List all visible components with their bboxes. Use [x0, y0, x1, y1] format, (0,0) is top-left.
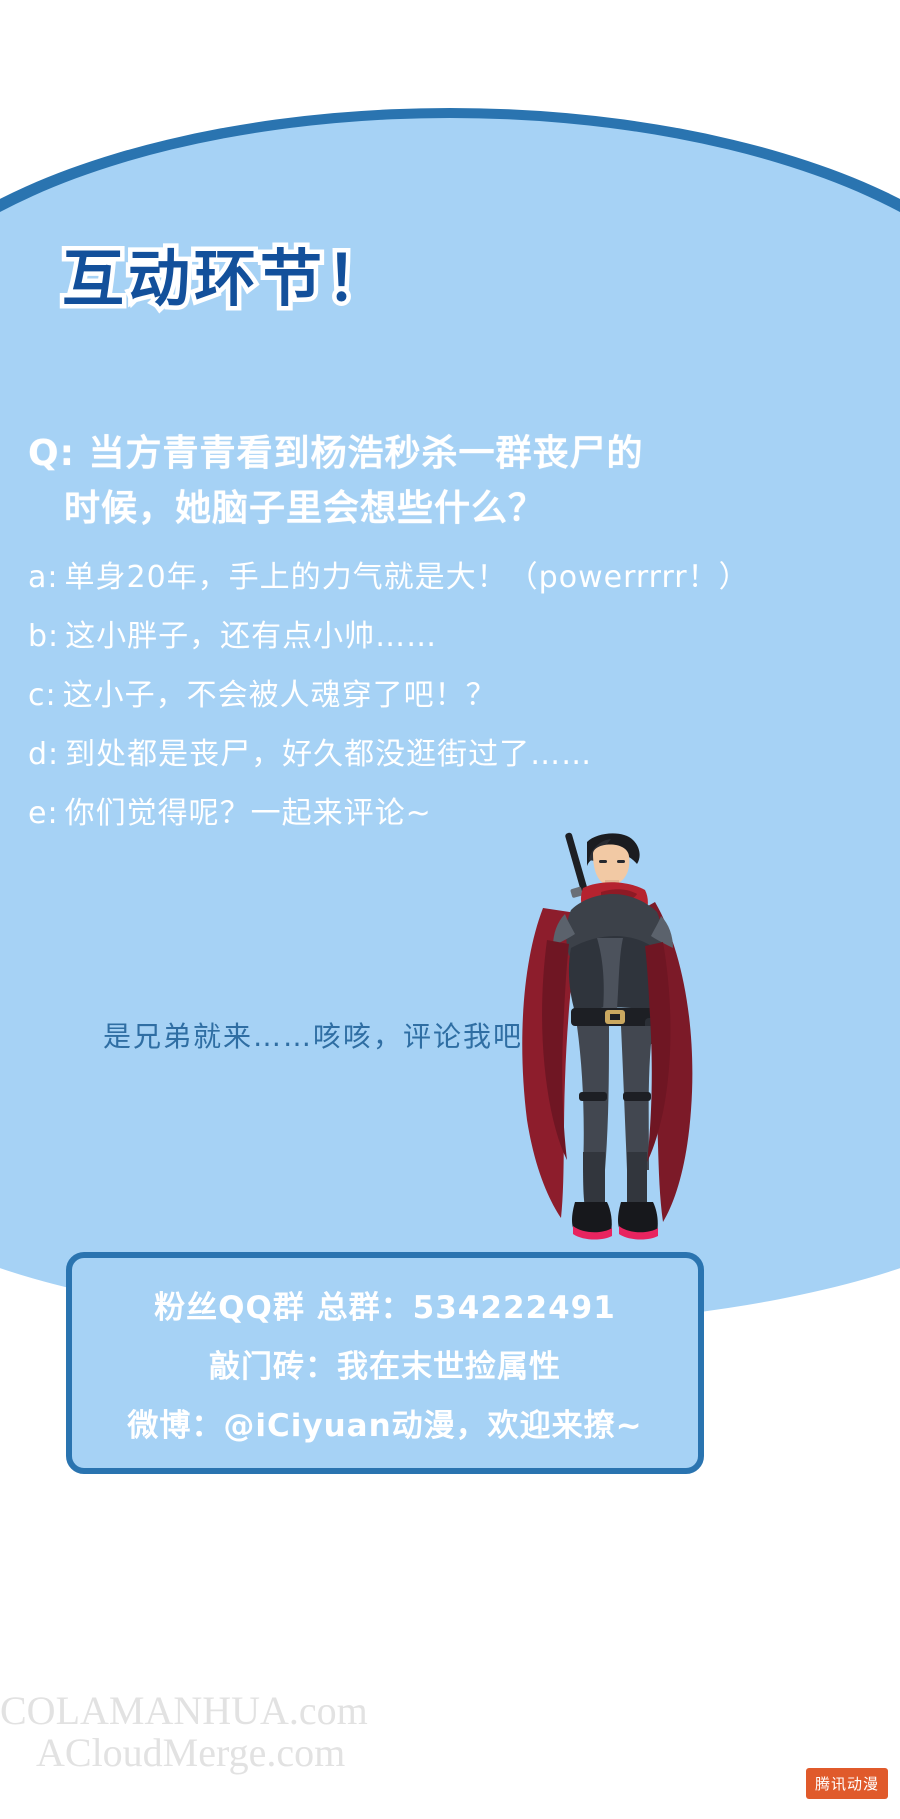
site-watermark: COLAMANHUA.com ACloudMerge.com [0, 1690, 520, 1774]
options-list: a:单身20年，手上的力气就是大！（powerrrrr！） b:这小胖子，还有点… [28, 563, 868, 858]
option-d[interactable]: d:到处都是丧尸，好久都没逛街过了…… [28, 740, 868, 770]
option-e[interactable]: e:你们觉得呢？一起来评论~ [28, 799, 868, 829]
option-a-label: 单身20年，手上的力气就是大！（powerrrrr！） [65, 560, 750, 595]
option-b-label: 这小胖子，还有点小帅…… [65, 619, 437, 654]
option-b-key: b: [28, 619, 59, 654]
option-b[interactable]: b:这小胖子，还有点小帅…… [28, 622, 868, 652]
entry-code-line: 敲门砖：我在末世捡属性 [209, 1341, 561, 1386]
option-e-label: 你们觉得呢？一起来评论~ [65, 796, 432, 831]
watermark-line-2: ACloudMerge.com [0, 1732, 520, 1774]
page-title: 互动环节！ [62, 228, 392, 318]
tencent-comics-badge: 腾讯动漫 [806, 1768, 888, 1799]
watermark-line-1: COLAMANHUA.com [0, 1690, 520, 1732]
character-illustration [505, 830, 735, 1255]
option-a-key: a: [28, 560, 59, 595]
weibo-line: 微博：@iCiyuan动漫，欢迎来撩~ [127, 1400, 642, 1445]
option-c-label: 这小子，不会被人魂穿了吧！？ [63, 678, 497, 713]
question-line-2: 时候，她脑子里会想些什么？ [28, 482, 768, 537]
handwritten-note: 是兄弟就来……咳咳，评论我吧~ [103, 1015, 548, 1055]
question-block: Q: 当方青青看到杨浩秒杀一群丧尸的 时候，她脑子里会想些什么？ [28, 427, 768, 536]
option-a[interactable]: a:单身20年，手上的力气就是大！（powerrrrr！） [28, 563, 868, 593]
question-line-1: Q: 当方青青看到杨浩秒杀一群丧尸的 [28, 427, 768, 482]
option-d-key: d: [28, 737, 59, 772]
qq-group-line: 粉丝QQ群 总群：534222491 [154, 1282, 616, 1327]
option-c[interactable]: c:这小子，不会被人魂穿了吧！？ [28, 681, 868, 711]
page-content: 互动环节！ Q: 当方青青看到杨浩秒杀一群丧尸的 时候，她脑子里会想些什么？ a… [0, 0, 900, 1819]
option-c-key: c: [28, 678, 57, 713]
fan-group-info-box: 粉丝QQ群 总群：534222491 敲门砖：我在末世捡属性 微博：@iCiyu… [66, 1252, 704, 1474]
option-e-key: e: [28, 796, 59, 831]
option-d-label: 到处都是丧尸，好久都没逛街过了…… [65, 737, 592, 772]
